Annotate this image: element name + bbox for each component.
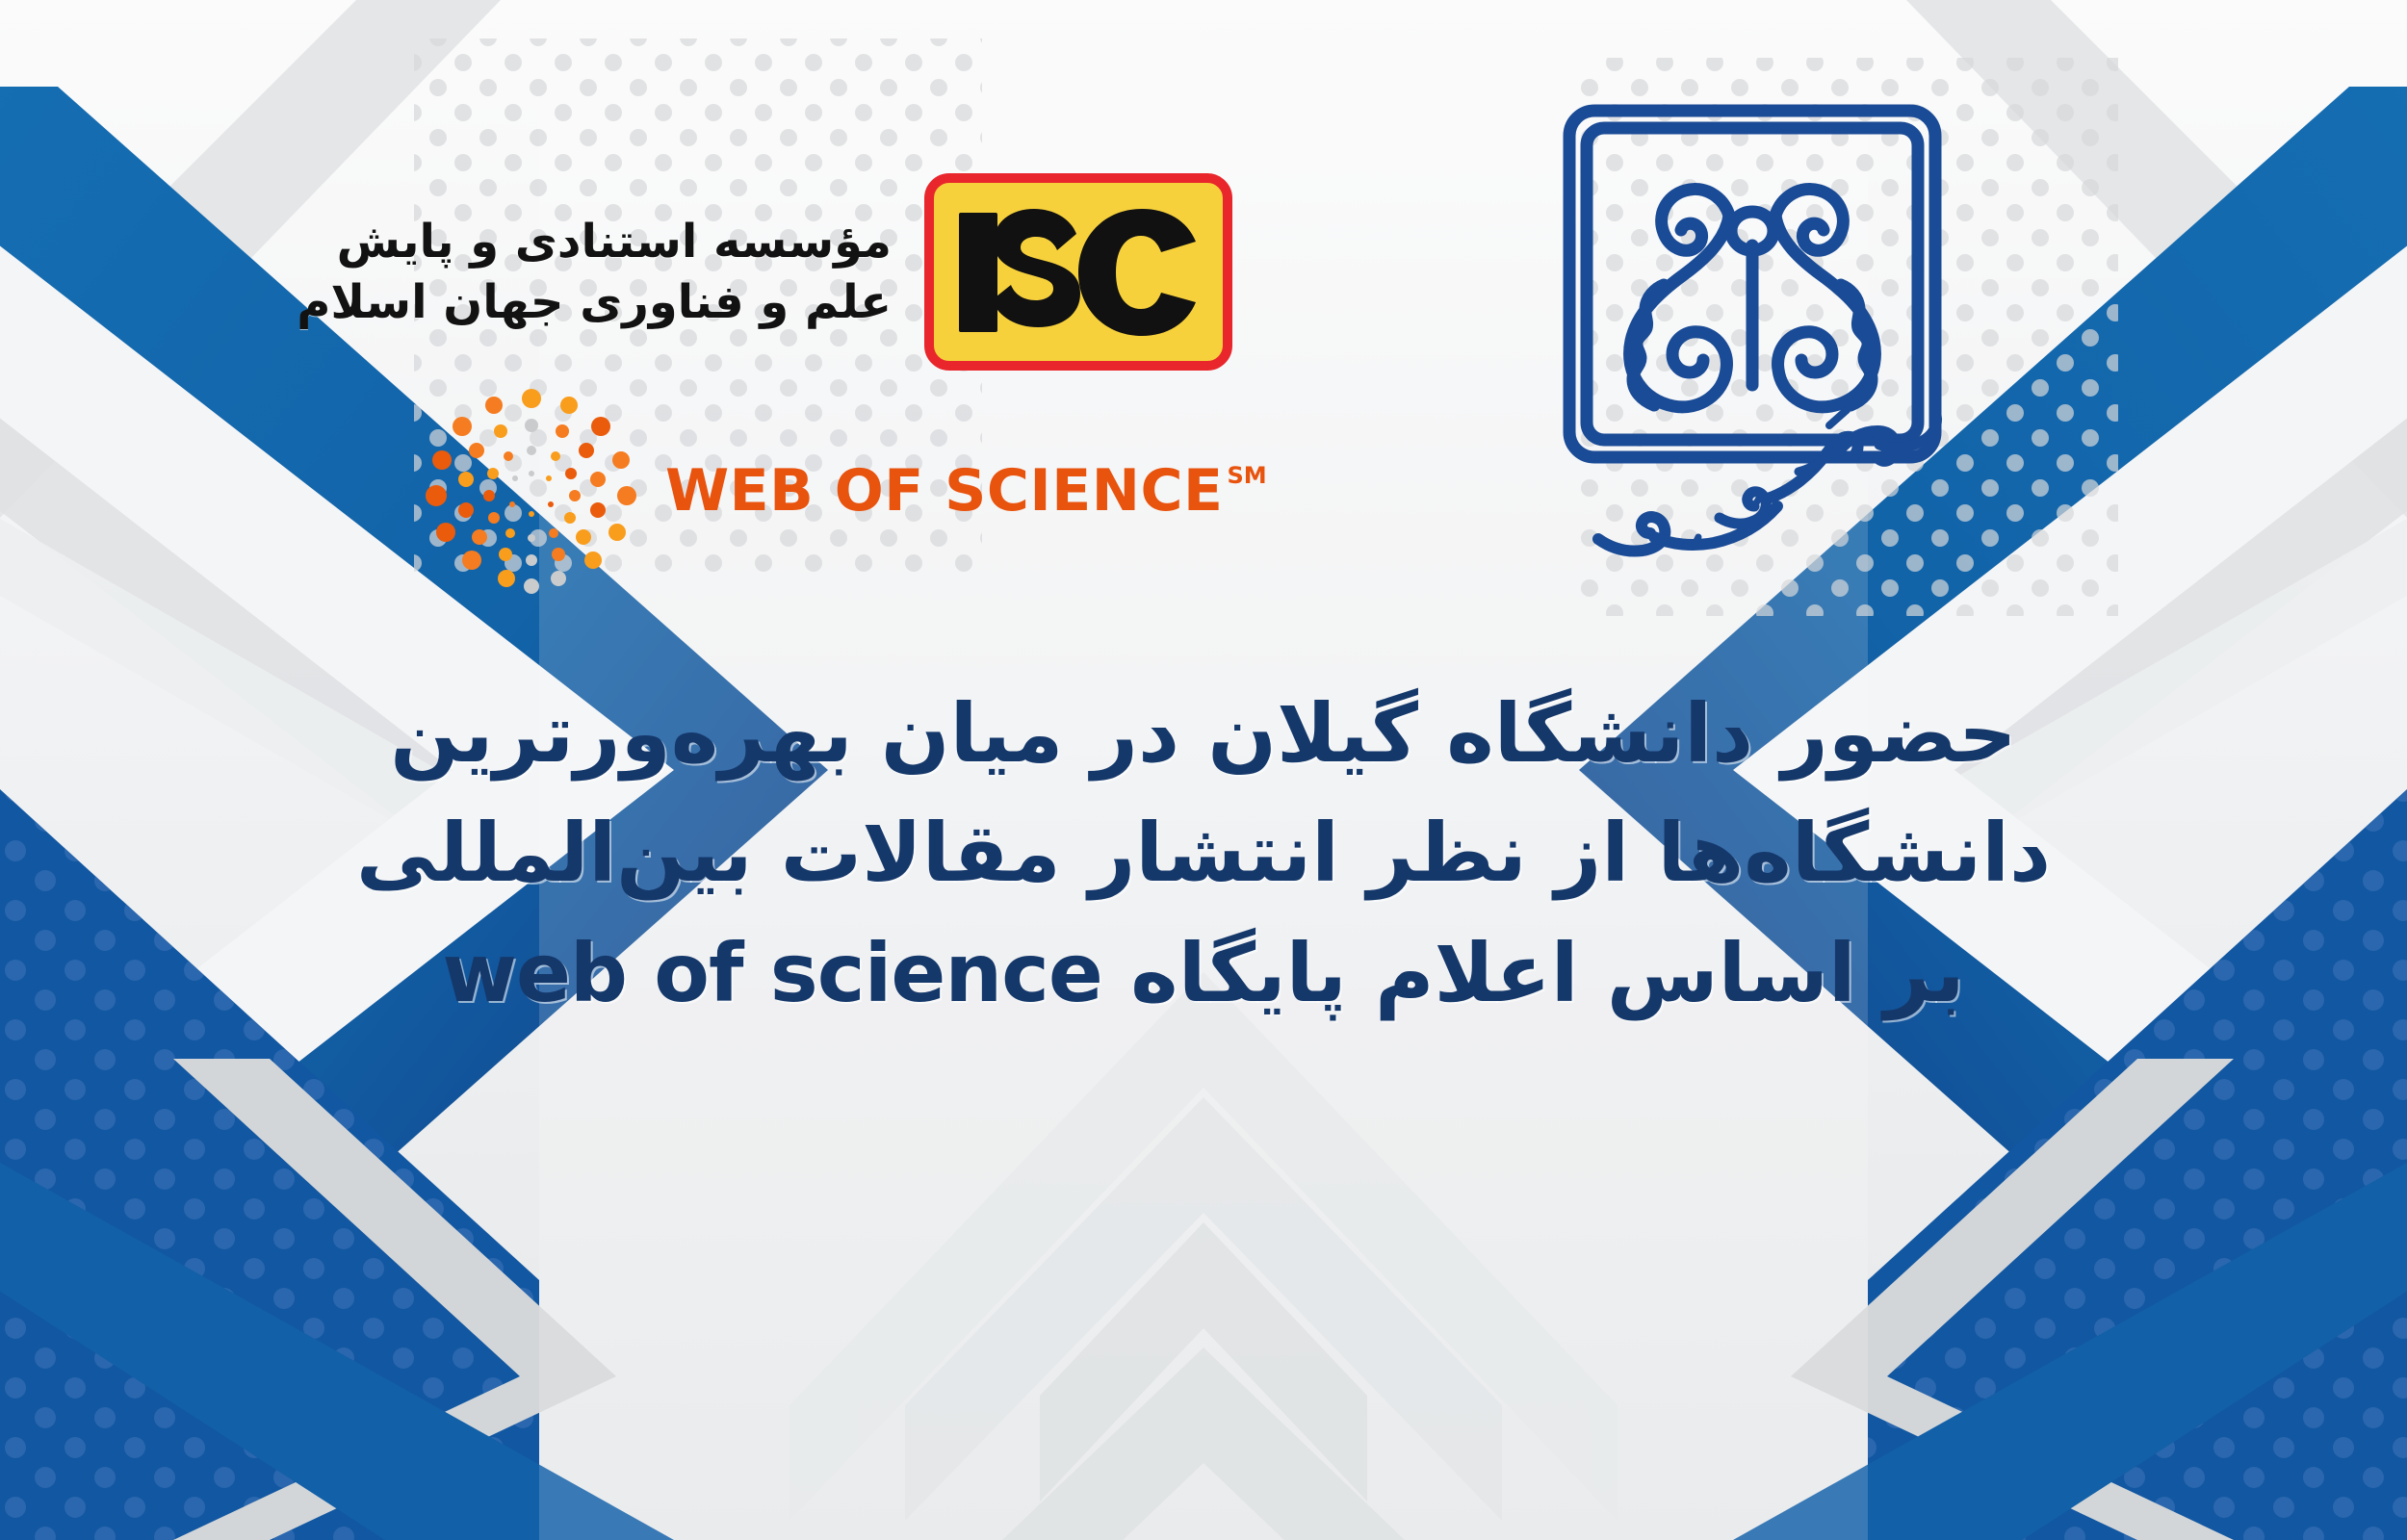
isc-logo-block: مؤسسه استنادی و پایش علم و فناوری جهان ا… bbox=[385, 168, 1232, 375]
headline: حضور دانشگاه گیلان در میان بهره‌ورترین د… bbox=[241, 674, 2166, 1033]
service-mark-superscript: SM bbox=[1227, 464, 1266, 487]
poster-canvas: مؤسسه استنادی و پایش علم و فناوری جهان ا… bbox=[0, 0, 2407, 1540]
guilan-university-logo bbox=[1540, 87, 1993, 597]
isc-mark bbox=[924, 173, 1232, 371]
web-of-science-block: WEB OF SCIENCE SM bbox=[424, 375, 1232, 606]
isc-wordmark-icon bbox=[953, 205, 1203, 340]
guilan-script-name-icon bbox=[1598, 410, 1937, 552]
guilan-emblem-icon bbox=[1569, 111, 1935, 457]
headline-line-3: بر اساس اعلام پایگاه web of science bbox=[241, 913, 2166, 1033]
headline-line-1: حضور دانشگاه گیلان در میان بهره‌ورترین bbox=[241, 674, 2166, 793]
isc-caption: مؤسسه استنادی و پایش علم و فناوری جهان ا… bbox=[297, 212, 892, 332]
isc-caption-line-2: علم و فناوری جهان اسلام bbox=[297, 272, 892, 332]
web-of-science-text: WEB OF SCIENCE bbox=[665, 462, 1223, 520]
headline-line-2: دانشگاه‌ها از نظر انتشار مقالات بین‌المل… bbox=[241, 793, 2166, 912]
isc-caption-line-1: مؤسسه استنادی و پایش bbox=[297, 212, 892, 271]
web-of-science-wordmark: WEB OF SCIENCE SM bbox=[665, 462, 1267, 520]
web-of-science-dots-icon bbox=[424, 383, 640, 600]
